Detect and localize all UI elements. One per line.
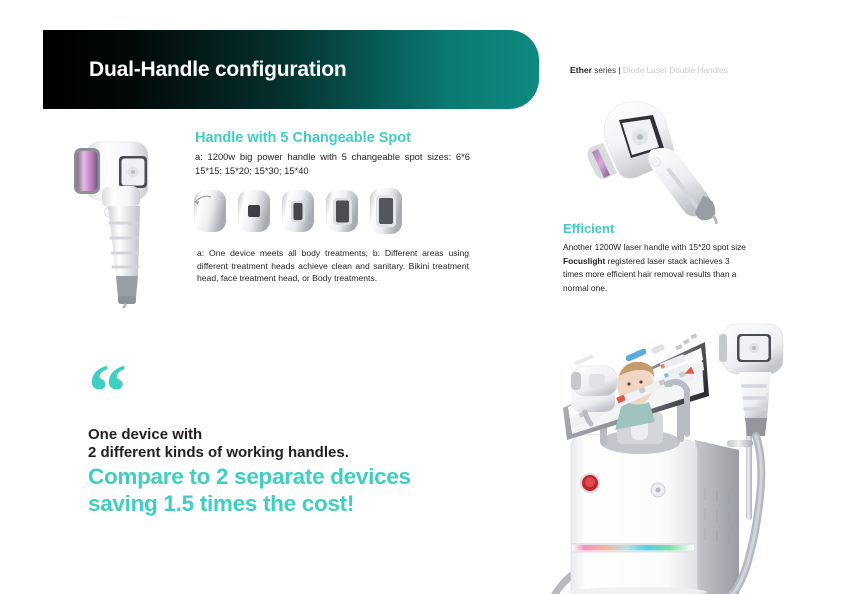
right-section-body: Another 1200W laser handle with 15*20 sp… [563, 241, 763, 295]
quote-mark-icon: “ [88, 362, 124, 422]
spot-size-tips-row [192, 182, 404, 240]
page-title: Dual-Handle configuration [89, 58, 347, 82]
quote-accent-text: Compare to 2 separate devices saving 1.5… [88, 463, 418, 517]
right-body-brand: Focuslight [563, 256, 605, 266]
series-label: Ether series | Diode Laser Double Handle… [570, 65, 728, 75]
right-body-part3: times more efficient hair removal result… [563, 269, 736, 293]
left-section-body-secondary: a: One device meets all body treatments;… [197, 247, 469, 285]
right-body-part2: registered laser stack achieves 3 [605, 256, 729, 266]
quote-line-1: One device with [88, 425, 202, 445]
right-section-heading: Efficient [563, 221, 614, 236]
left-section-heading: Handle with 5 Changeable Spot [195, 129, 480, 148]
series-word: series [592, 66, 618, 75]
series-description: Diode Laser Double Handles [621, 66, 728, 75]
poster-page: Dual-Handle configuration [0, 0, 841, 594]
series-brand: Ether [570, 65, 592, 75]
handle-photo [58, 128, 188, 308]
right-body-part1: Another 1200W laser handle with 15*20 sp… [563, 242, 746, 252]
angled-handle-photo [577, 92, 762, 224]
left-section-body: a: 1200w big power handle with 5 changea… [195, 150, 470, 178]
machine-photo [527, 300, 817, 594]
header-banner: Dual-Handle configuration [43, 30, 539, 109]
quote-line-2: 2 different kinds of working handles. [88, 443, 349, 463]
